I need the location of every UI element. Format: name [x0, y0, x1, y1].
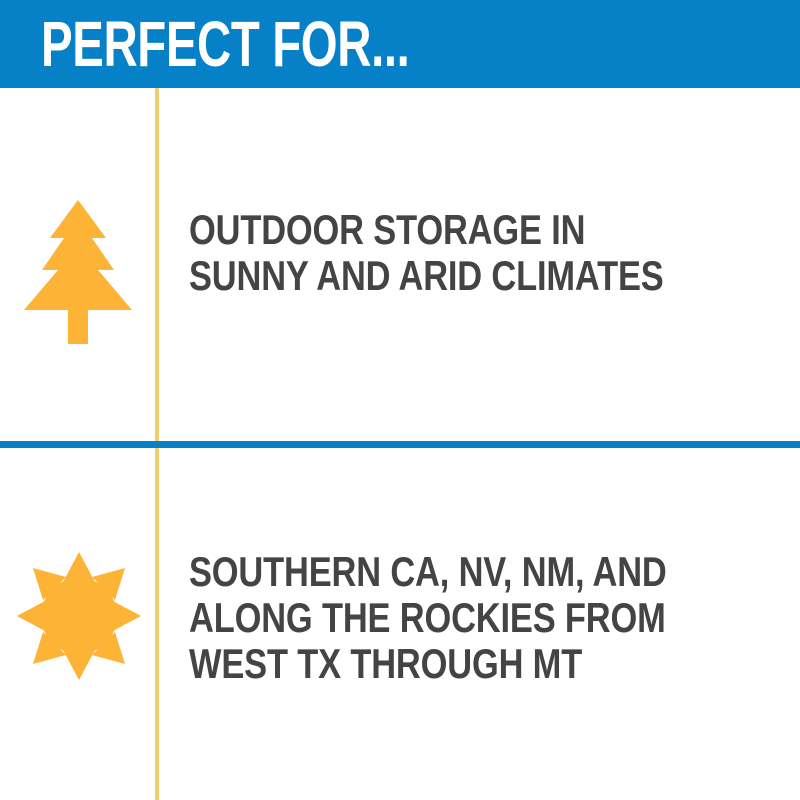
- pine-tree-icon: [22, 200, 134, 344]
- feature-text-line: SOUTHERN CA, NV, NM, AND: [189, 549, 683, 595]
- feature-icon-cell: [0, 88, 155, 441]
- feature-icon-cell: [0, 448, 155, 800]
- infographic-panel: PERFECT FOR... OUTDOOR STORAGE IN SUNNY …: [0, 0, 800, 800]
- page-title: PERFECT FOR...: [41, 8, 409, 80]
- header-banner: PERFECT FOR...: [0, 0, 800, 88]
- feature-text-outdoor-storage: OUTDOOR STORAGE IN SUNNY AND ARID CLIMAT…: [189, 207, 683, 299]
- sun-icon: [17, 552, 141, 680]
- feature-row-outdoor-storage: OUTDOOR STORAGE IN SUNNY AND ARID CLIMAT…: [0, 88, 800, 441]
- feature-row-regions: SOUTHERN CA, NV, NM, AND ALONG THE ROCKI…: [0, 448, 800, 800]
- feature-text-line: ALONG THE ROCKIES FROM: [189, 595, 683, 641]
- feature-text-line: SUNNY AND ARID CLIMATES: [189, 253, 683, 299]
- feature-text-line: OUTDOOR STORAGE IN: [189, 207, 683, 253]
- feature-text-line: WEST TX THROUGH MT: [189, 641, 683, 687]
- feature-text-regions: SOUTHERN CA, NV, NM, AND ALONG THE ROCKI…: [189, 549, 683, 687]
- horizontal-divider: [0, 441, 800, 448]
